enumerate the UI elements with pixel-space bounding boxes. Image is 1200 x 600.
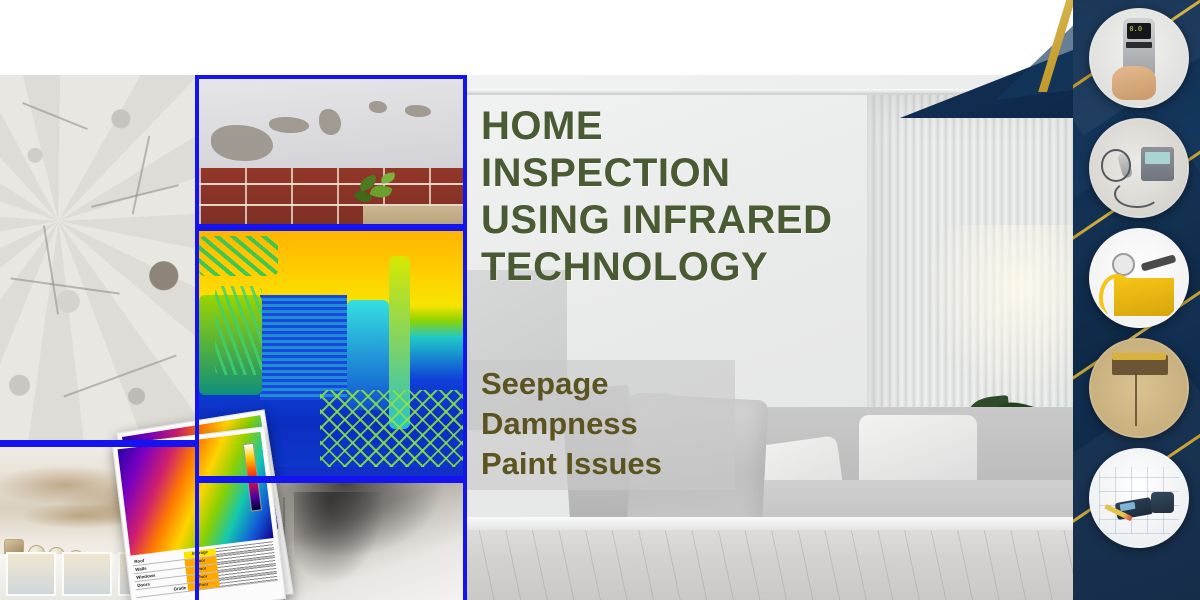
meter-case xyxy=(1151,492,1174,513)
poster-title: HOME INSPECTION USING INFRARED TECHNOLOG… xyxy=(481,103,901,291)
surface-crack xyxy=(1135,373,1137,427)
subtitle-line-2: Dampness xyxy=(481,404,761,444)
title-line-2: INSPECTION xyxy=(481,150,901,197)
divider-horizontal-2 xyxy=(199,224,463,231)
pressure-gauge xyxy=(1112,253,1135,276)
title-line-1: HOME xyxy=(481,103,901,150)
title-line-3: USING INFRARED xyxy=(481,197,901,244)
device-hydrostatic-pressure-test-pump xyxy=(1089,228,1189,328)
monitor-screen xyxy=(1145,152,1170,164)
divider-horizontal-1 xyxy=(199,75,463,79)
title-line-4: TECHNOLOGY xyxy=(481,244,901,291)
meter-keypad xyxy=(1126,42,1153,49)
poster-canvas: HOME INSPECTION USING INFRARED TECHNOLOG… xyxy=(0,0,1200,600)
device-thermal-wall-cavity-sample xyxy=(1089,338,1189,438)
divider-horizontal-3 xyxy=(199,476,463,483)
device-wall-moisture-probe-monitor xyxy=(1089,118,1189,218)
meter-reading: 0.0 xyxy=(1129,25,1142,33)
poster-subtitle: Seepage Dampness Paint Issues xyxy=(481,364,761,484)
subtitle-line-1: Seepage xyxy=(481,364,761,404)
peeling-paint-wall-photo xyxy=(0,75,195,440)
thermal-fence xyxy=(320,390,463,474)
cavity-trim xyxy=(1112,353,1166,360)
divider-vertical-right xyxy=(463,75,467,600)
photo-collage: Roof Average Walls Poor Windows Poor Doo… xyxy=(0,75,467,600)
top-white-band xyxy=(0,0,1073,75)
lamp-glow xyxy=(922,225,1087,400)
subtitle-line-3: Paint Issues xyxy=(481,444,761,484)
device-laser-distance-meter-kit xyxy=(1089,448,1189,548)
divider-horizontal-4 xyxy=(0,440,195,447)
device-moisture-meter-handheld: 0.0 xyxy=(1089,8,1189,108)
pump-handle xyxy=(1141,254,1176,271)
brick-plaster-damage-photo xyxy=(199,79,463,227)
hand xyxy=(1112,66,1156,101)
device-sidebar: 0.0 xyxy=(1073,0,1200,600)
thermal-report-page-front: Roof Average Walls Poor Windows Poor Doo… xyxy=(112,426,286,600)
divider-vertical-left xyxy=(195,75,199,600)
